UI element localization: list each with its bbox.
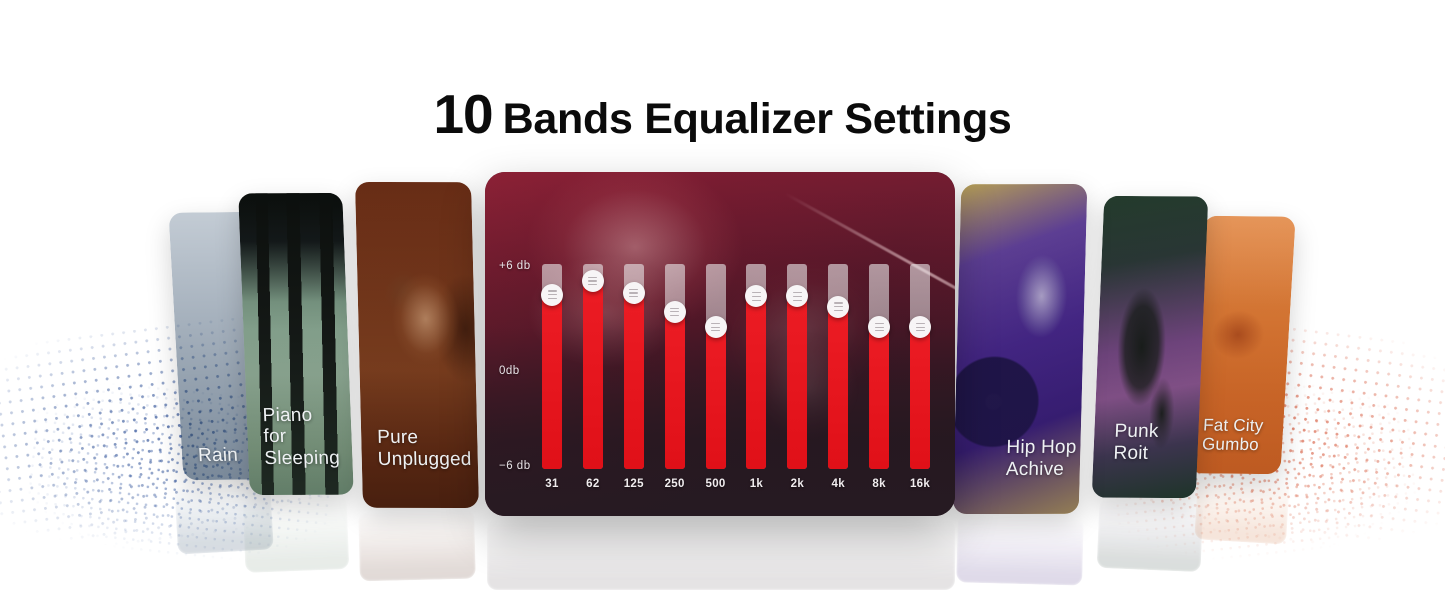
axis-label-0db: 0db: [499, 365, 520, 377]
band-fill: [665, 312, 685, 469]
band-fill: [828, 307, 848, 469]
preset-label-piano: Piano for Sleeping: [262, 405, 340, 469]
equalizer-band-62[interactable]: 62: [583, 264, 603, 469]
equalizer-band-8k[interactable]: 8k: [869, 264, 889, 469]
band-frequency-label: 125: [624, 478, 644, 490]
band-fill: [624, 293, 644, 469]
preset-label-fat-city-gumbo: Fat City Gumbo: [1201, 415, 1263, 454]
axis-label-minus-6db: −6 db: [499, 460, 531, 472]
band-fill: [746, 296, 766, 469]
band-frequency-label: 2k: [791, 478, 804, 490]
preset-label-pure-unplugged: Pure Unplugged: [377, 427, 472, 470]
equalizer-band-4k[interactable]: 4k: [828, 264, 848, 469]
equalizer-band-1k[interactable]: 1k: [746, 264, 766, 469]
axis-label-plus-6db: +6 db: [499, 260, 531, 272]
band-frequency-label: 1k: [750, 478, 763, 490]
band-slider-knob[interactable]: [664, 301, 686, 323]
band-slider-knob[interactable]: [582, 270, 604, 292]
band-fill: [869, 327, 889, 469]
band-frequency-label: 16k: [910, 478, 930, 490]
band-slider-knob[interactable]: [827, 296, 849, 318]
band-fill: [706, 327, 726, 469]
equalizer-band-2k[interactable]: 2k: [787, 264, 807, 469]
band-slider-knob[interactable]: [623, 282, 645, 304]
preset-label-punk-roit: Punk Roit: [1113, 421, 1159, 464]
equalizer-band-list: 31621252505001k2k4k8k16k: [542, 264, 930, 469]
equalizer-band-500[interactable]: 500: [706, 264, 726, 469]
reflection-pure-unplugged: [358, 509, 476, 582]
reflection-hip-hop: [956, 514, 1084, 585]
reflection-punk-roit: [1097, 498, 1204, 572]
reflection-fat-city-gumbo: [1194, 473, 1290, 544]
band-frequency-label: 62: [586, 478, 599, 490]
band-frequency-label: 8k: [872, 478, 885, 490]
band-fill: [583, 281, 603, 469]
page-title-number: 10: [433, 83, 492, 145]
band-fill: [787, 296, 807, 469]
band-slider-knob[interactable]: [705, 316, 727, 338]
preset-card-punk-roit[interactable]: Punk Roit: [1092, 196, 1209, 498]
page-title: 10Bands Equalizer Settings: [0, 82, 1445, 146]
band-fill: [910, 327, 930, 469]
equalizer-band-125[interactable]: 125: [624, 264, 644, 469]
equalizer-band-31[interactable]: 31: [542, 264, 562, 469]
equalizer-card[interactable]: +6 db 0db −6 db 31621252505001k2k4k8k16k: [485, 172, 955, 516]
band-slider-knob[interactable]: [541, 284, 563, 306]
preset-label-hip-hop-achive: Hip Hop Achive: [1006, 437, 1077, 480]
preset-label-rain: Rain: [197, 444, 238, 466]
equalizer-presets-banner: 10Bands Equalizer Settings Rain Piano fo…: [0, 0, 1445, 592]
band-frequency-label: 4k: [832, 478, 845, 490]
preset-card-hip-hop-achive[interactable]: Hip Hop Achive: [953, 184, 1088, 514]
reflection-piano: [243, 495, 350, 573]
equalizer-band-250[interactable]: 250: [665, 264, 685, 469]
band-frequency-label: 31: [545, 478, 558, 490]
page-title-text: Bands Equalizer Settings: [503, 95, 1012, 143]
preset-card-piano-for-sleeping[interactable]: Piano for Sleeping: [238, 193, 354, 495]
equalizer-band-16k[interactable]: 16k: [910, 264, 930, 469]
band-frequency-label: 250: [665, 478, 685, 490]
reflection-equalizer-card: [487, 518, 955, 590]
band-frequency-label: 500: [706, 478, 726, 490]
band-fill: [542, 295, 562, 469]
preset-card-pure-unplugged[interactable]: Pure Unplugged: [355, 182, 479, 508]
